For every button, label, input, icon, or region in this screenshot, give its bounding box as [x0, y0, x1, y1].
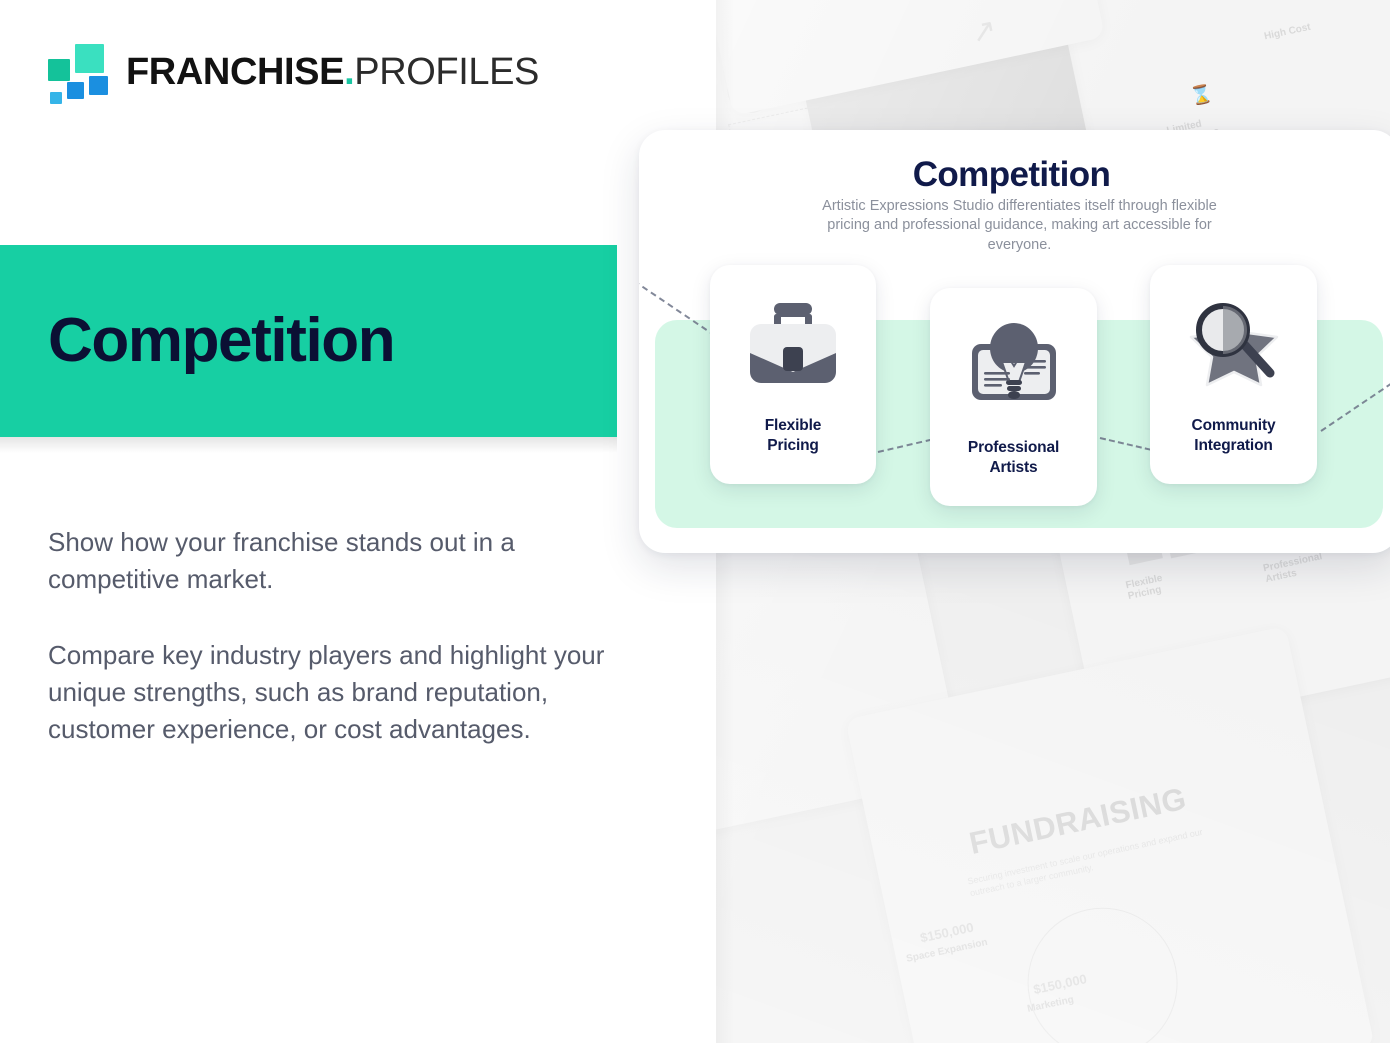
title-banner-shadow	[0, 437, 617, 453]
brand-wordmark: FRANCHISE.PROFILES	[126, 53, 539, 91]
brand-logo: FRANCHISE.PROFILES	[48, 44, 539, 99]
logo-square-3	[89, 76, 108, 95]
body-paragraph-2: Compare key industry players and highlig…	[48, 637, 628, 749]
star-magnifier-icon	[1150, 289, 1317, 399]
logo-square-4	[67, 82, 84, 99]
brand-name-bold: FRANCHISE	[126, 51, 344, 93]
briefcase-icon	[710, 289, 876, 399]
body-paragraph-1: Show how your franchise stands out in a …	[48, 524, 628, 598]
logo-mark-icon	[48, 44, 108, 99]
logo-square-2	[75, 44, 104, 73]
slide-preview-card[interactable]: Competition Artistic Expressions Studio …	[639, 130, 1390, 553]
feature-label: Community Integration	[1156, 416, 1311, 456]
lightbulb-certificate-icon	[930, 312, 1097, 422]
bg-label: Professional Artists	[1262, 549, 1335, 585]
brand-name-light: PROFILES	[354, 51, 539, 93]
feature-card-community-integration[interactable]: Community Integration	[1150, 265, 1317, 484]
feature-label: Professional Artists	[936, 438, 1091, 478]
preview-title: Competition	[639, 155, 1384, 195]
slide-canvas: $ Drop-In Fees Session Workshops Commiss…	[0, 0, 1390, 1043]
logo-square-1	[48, 59, 70, 81]
brand-name-dot: .	[344, 51, 354, 93]
bg-label: Flexible Pricing	[1125, 568, 1190, 602]
arrow-up-right-icon: ↗	[969, 15, 1000, 50]
hourglass-icon: ⌛	[1188, 84, 1214, 106]
left-content-panel: FRANCHISE.PROFILES Competition Show how …	[0, 0, 716, 1043]
page-title: Competition	[48, 310, 394, 372]
feature-card-flexible-pricing[interactable]: Flexible Pricing	[710, 265, 876, 484]
bg-label: Space Expansion	[905, 937, 988, 965]
feature-label: Flexible Pricing	[716, 416, 870, 456]
title-banner: Competition	[0, 245, 617, 437]
logo-square-5	[50, 92, 62, 104]
bg-label: High Cost	[1263, 22, 1311, 43]
preview-subtitle: Artistic Expressions Studio differentiat…	[822, 197, 1217, 255]
feature-card-professional-artists[interactable]: Professional Artists	[930, 288, 1097, 506]
